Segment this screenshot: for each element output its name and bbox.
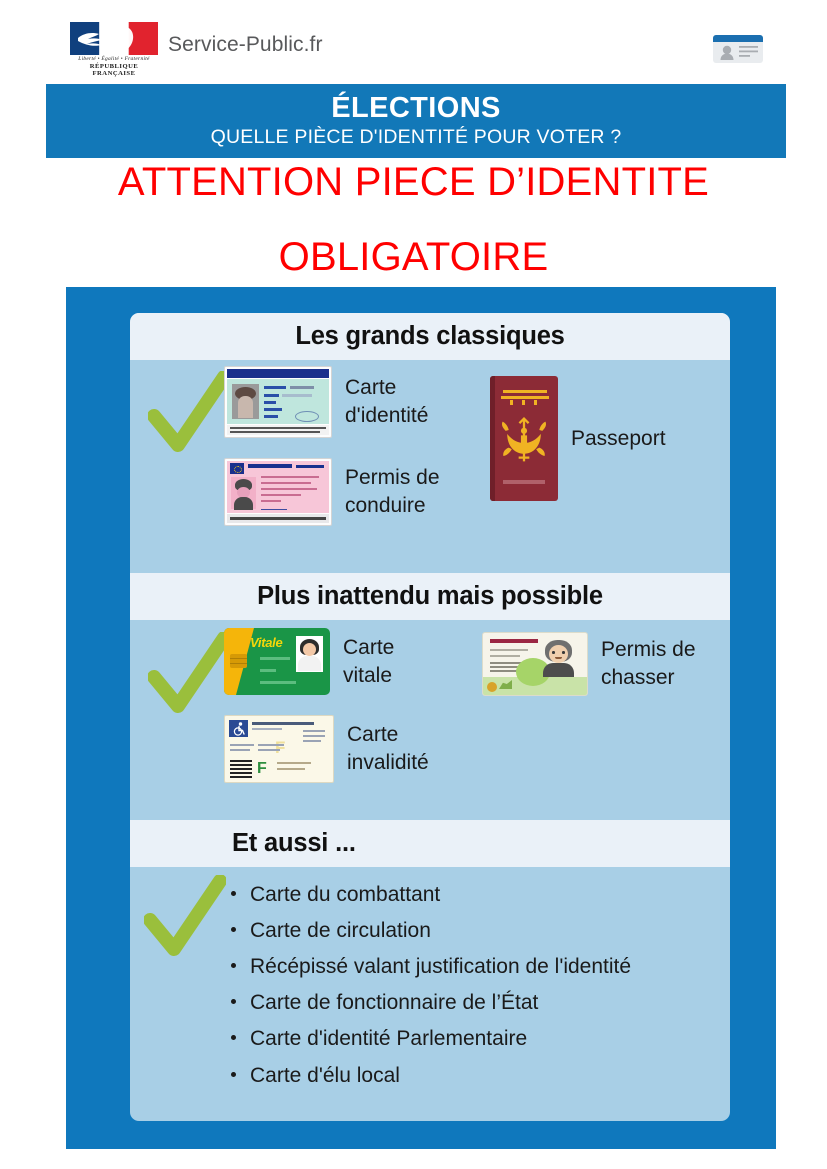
additional-documents-list: Carte du combattant Carte de circulation… [228,877,718,1094]
attention-heading: ATTENTION PIECE D’IDENTITE OBLIGATOIRE [0,162,827,277]
item-carte-identite: Carted'identité [224,366,440,438]
item-label: Carteinvalidité [347,721,429,776]
list-item: Carte d'identité Parlementaire [228,1021,718,1057]
banner-subtitle: QUELLE PIÈCE D'IDENTITÉ POUR VOTER ? [211,125,622,149]
passport-emblem-icon [498,414,550,466]
list-item: Carte d'élu local [228,1058,718,1094]
poster-page: Liberté • Égalité • Fraternité RÉPUBLIQU… [0,0,827,1169]
green-checkmark-icon [148,371,230,455]
disability-card: F F [224,715,334,783]
carte-vitale: Vitale [224,628,330,695]
list-item: Récépissé valant justification de l'iden… [228,949,718,985]
list-item: Carte de circulation [228,913,718,949]
item-passeport: Passeport [490,376,666,501]
attention-line-1: ATTENTION PIECE D’IDENTITE [118,160,709,204]
item-carte-invalidite: F F Cartein [224,715,429,783]
green-checkmark-icon [148,632,230,716]
item-permis-chasser: Permis dechasser [482,632,696,696]
item-permis-conduire: Permis deconduire [224,458,440,526]
column-right-inattendu: Permis dechasser [482,632,696,696]
list-item: Carte de fonctionnaire de l’État [228,985,718,1021]
column-left-inattendu: Vitale Cartevitale [224,628,429,783]
attention-line-2: OBLIGATOIRE [0,237,827,277]
french-flag-marianne-icon [70,22,158,55]
section-header-classiques: Les grands classiques [130,313,730,360]
driving-licence-card [224,458,332,526]
poster-panel: Les grands classiques [130,313,730,1121]
wheelchair-icon [229,720,248,737]
site-name: Service-Public.fr [168,33,323,57]
item-carte-vitale: Vitale Cartevitale [224,628,429,695]
item-label: Carted'identité [345,374,428,429]
section-heading-text: Les grands classiques [295,322,564,351]
section-body-inattendu: Vitale Cartevitale [130,620,730,820]
section-heading-text: Plus inattendu mais possible [257,582,603,611]
item-label: Permis dechasser [601,636,696,691]
section-body-classiques: Carted'identité [130,360,730,573]
id-card-icon [710,33,766,65]
section-heading-text: Et aussi ... [152,829,356,858]
section-header-et-aussi: Et aussi ... [130,820,730,867]
section-body-et-aussi: Carte du combattant Carte de circulation… [130,867,730,1121]
brand-header: Liberté • Égalité • Fraternité RÉPUBLIQU… [0,0,827,82]
section-header-inattendu: Plus inattendu mais possible [130,573,730,620]
item-label: Permis deconduire [345,464,440,519]
poster-frame: Les grands classiques [66,287,776,1149]
green-checkmark-icon [144,875,226,959]
passport-booklet [490,376,558,501]
republique-francaise-logo: Liberté • Égalité • Fraternité RÉPUBLIQU… [70,22,160,74]
list-item: Carte du combattant [228,877,718,913]
french-id-card [224,366,332,438]
elections-banner: ÉLECTIONS QUELLE PIÈCE D'IDENTITÉ POUR V… [46,84,786,158]
hunting-licence-card [482,632,588,696]
banner-title: ÉLECTIONS [331,93,501,123]
logo-motto: Liberté • Égalité • Fraternité [70,56,158,62]
column-left-classiques: Carted'identité [224,366,440,526]
item-label: Cartevitale [343,634,394,689]
item-label: Passeport [571,425,666,453]
column-right-classiques: Passeport [490,376,666,501]
logo-republic-label: RÉPUBLIQUE FRANÇAISE [70,63,158,77]
